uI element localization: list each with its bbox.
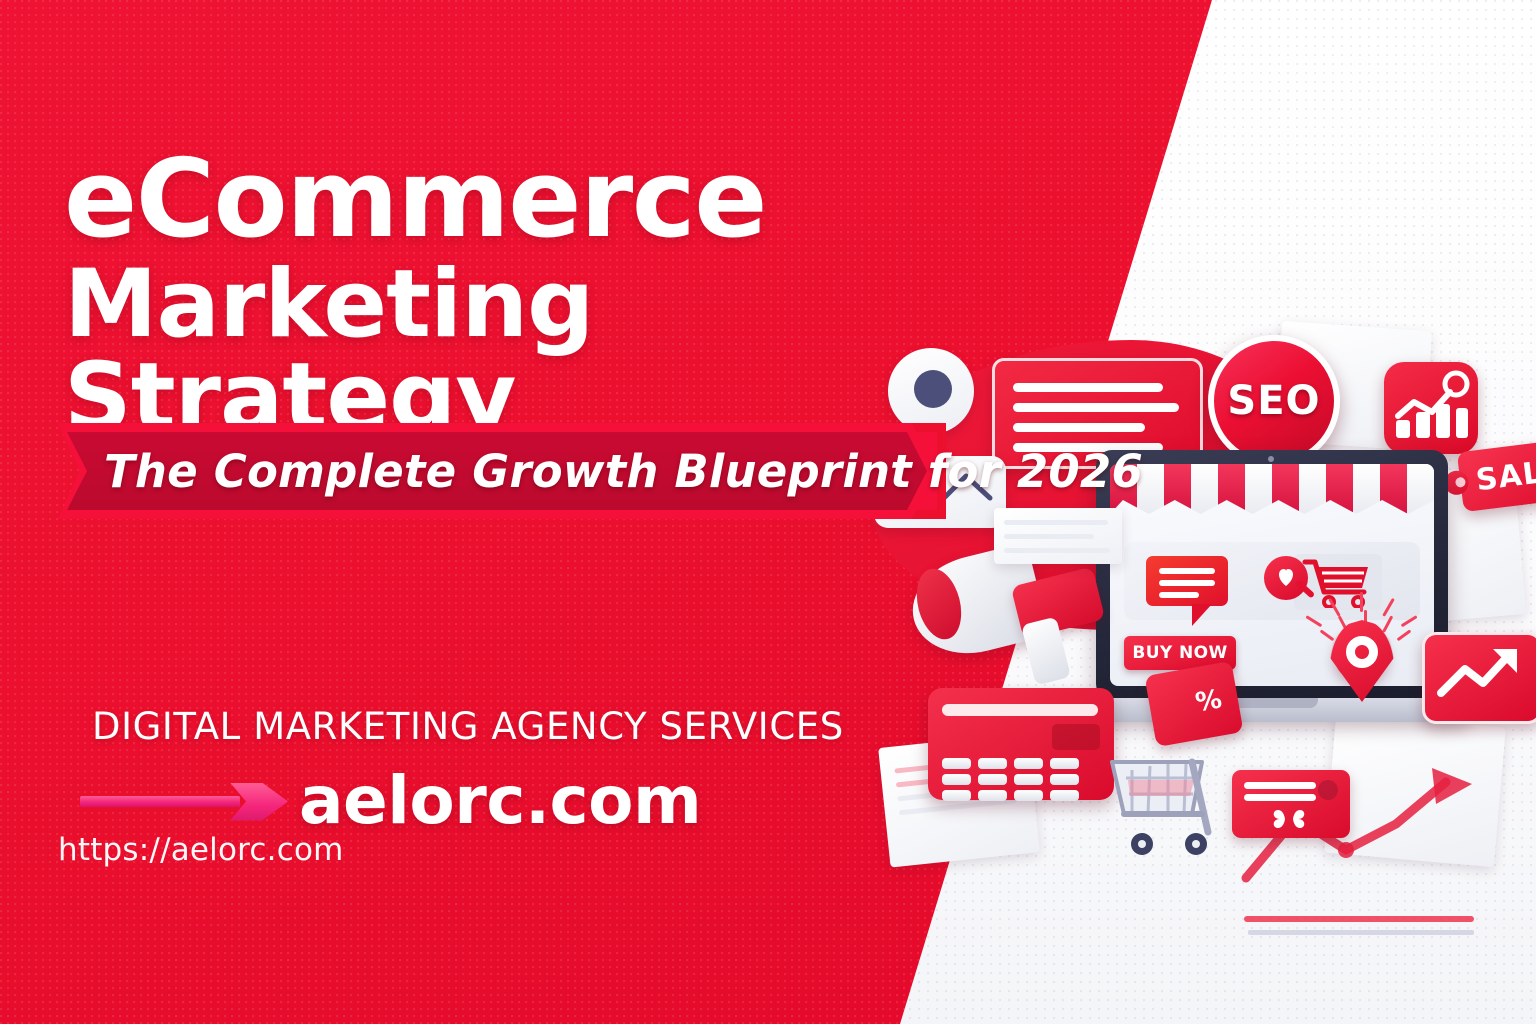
laptop-camera-dot (1268, 456, 1274, 462)
ecommerce-marketing-banner: SEO SALE (0, 0, 1536, 1024)
arrow-right-icon (80, 781, 285, 821)
subtitle-ribbon: The Complete Growth Blueprint for 2026 (58, 423, 946, 519)
voucher-card-icon (1232, 770, 1350, 838)
seo-badge-icon: SEO (1208, 335, 1340, 467)
tagline-text: DIGITAL MARKETING AGENCY SERVICES (92, 705, 844, 748)
laptop-trackpad-notch (1226, 698, 1318, 708)
subtitle-text: The Complete Growth Blueprint for 2026 (104, 423, 1143, 519)
shopping-trolley-icon (1098, 740, 1228, 858)
domain-row: aelorc.com (80, 762, 701, 839)
storefront-awning-icon (1110, 464, 1434, 514)
location-pin-rays (1308, 592, 1418, 636)
credit-card-icon (928, 688, 1114, 800)
heart-search-icon (1264, 556, 1308, 600)
headline-line-1: eCommerce (64, 147, 984, 254)
trend-arrow-card-icon (1422, 632, 1536, 724)
page-title: eCommerce Marketing Strategy (64, 147, 984, 444)
headline-line-2: Marketing Strategy (64, 258, 984, 444)
website-url[interactable]: https://aelorc.com (58, 832, 344, 868)
domain-text: aelorc.com (299, 762, 701, 839)
chat-bubble-icon (1146, 556, 1228, 606)
price-tag-icon: % (1144, 661, 1243, 747)
analytics-chart-icon (1384, 362, 1478, 454)
